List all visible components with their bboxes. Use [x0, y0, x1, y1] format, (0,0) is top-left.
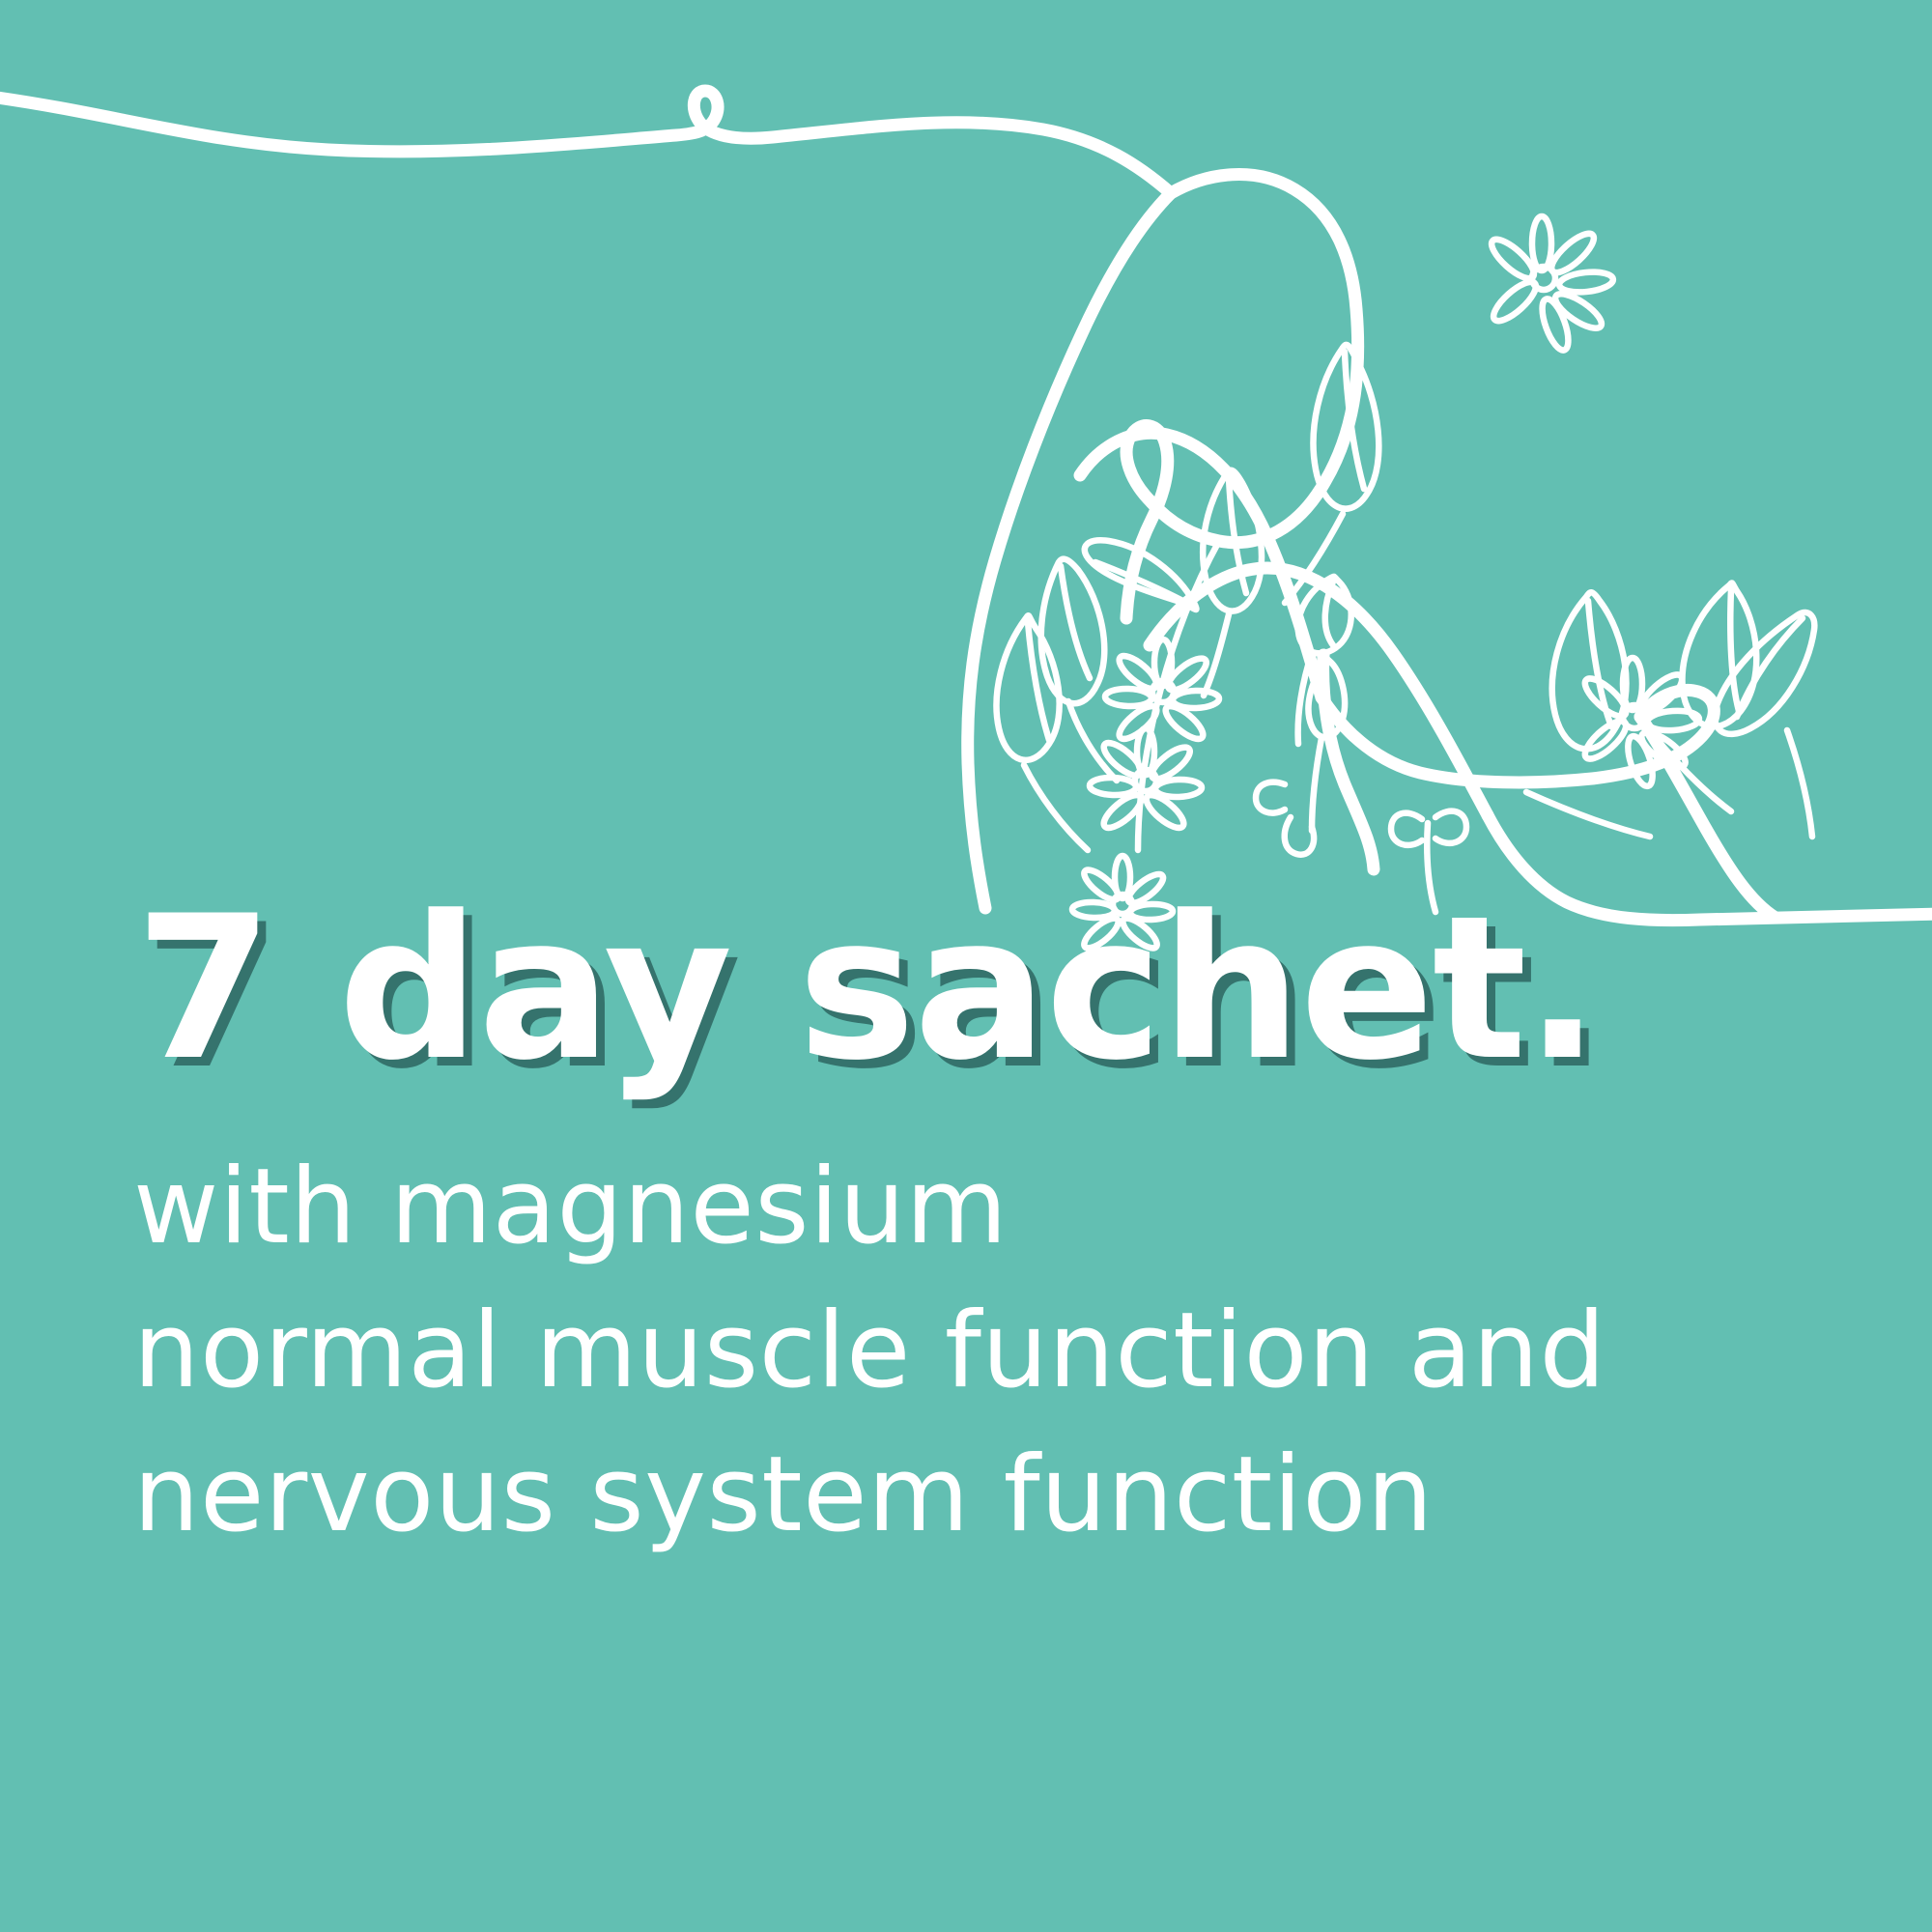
- page-title: 7 day sachet.: [135, 889, 1599, 1091]
- subtitle-line-2: normal muscle function and: [133, 1279, 1872, 1423]
- poster-canvas: 7 day sachet. with magnesium normal musc…: [0, 0, 1932, 1932]
- subtitle-line-1: with magnesium: [133, 1135, 1872, 1279]
- subtitle-line-3: nervous system function: [133, 1423, 1872, 1567]
- text-block: 7 day sachet. with magnesium normal musc…: [0, 0, 1932, 1932]
- subtitle-block: with magnesium normal muscle function an…: [133, 1135, 1872, 1567]
